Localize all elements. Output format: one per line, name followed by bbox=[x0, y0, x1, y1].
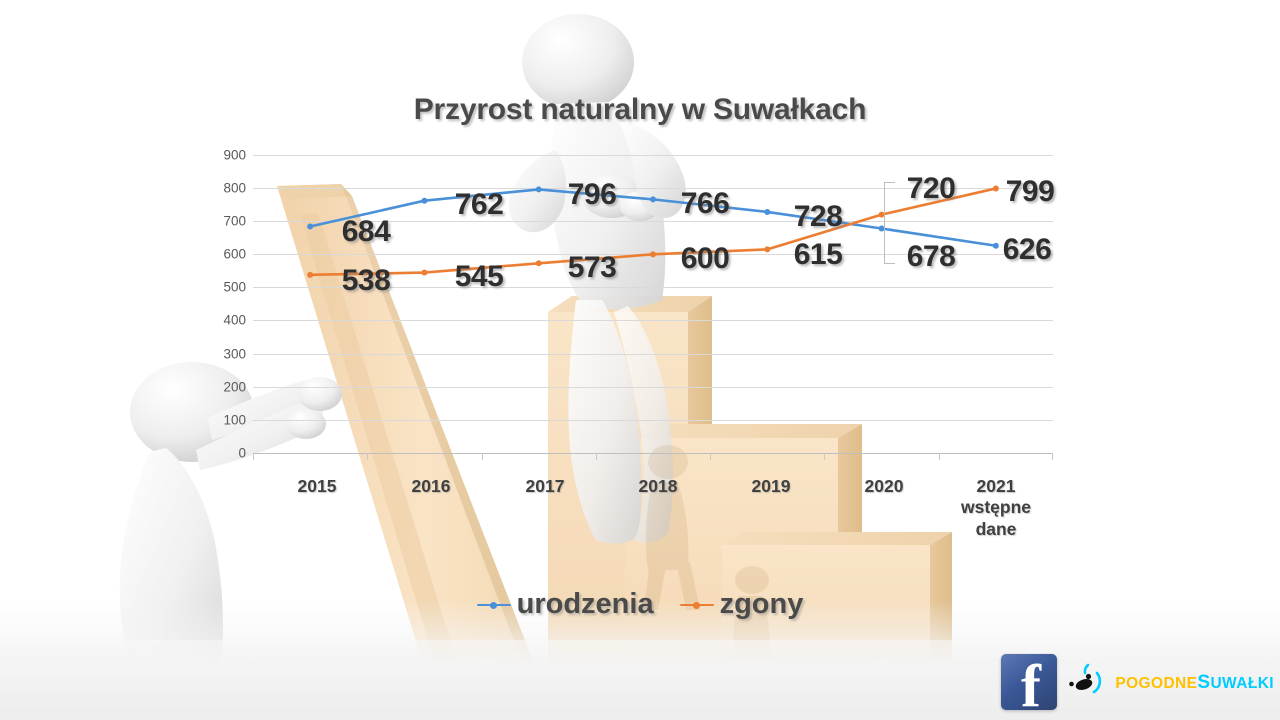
data-label-zgony-2020: 720 bbox=[907, 172, 956, 206]
data-label-urodzenia-2017: 796 bbox=[568, 178, 617, 212]
x-label-2015: 2015 bbox=[257, 476, 377, 497]
x-label-2018: 2018 bbox=[598, 476, 718, 497]
x-tick-5 bbox=[824, 453, 825, 460]
callout-bracket bbox=[884, 182, 895, 264]
series-urodzenia bbox=[307, 186, 999, 248]
data-label-zgony-2018: 600 bbox=[681, 242, 730, 276]
data-label-urodzenia-2016: 762 bbox=[455, 188, 504, 222]
data-label-urodzenia-2021: 626 bbox=[1003, 233, 1052, 267]
x-tick-6 bbox=[939, 453, 940, 460]
x-label-2021: 2021 wstępne dane bbox=[936, 476, 1056, 540]
legend-marker-icon-zgony bbox=[680, 599, 714, 611]
data-label-zgony-2021: 799 bbox=[1006, 175, 1055, 209]
data-point-zgony-2016[interactable] bbox=[421, 270, 427, 276]
legend-item-urodzenia[interactable]: urodzenia bbox=[477, 588, 654, 621]
slide-canvas: Przyrost naturalny w Suwałkach 900 800 7… bbox=[0, 0, 1280, 720]
data-point-zgony-2021[interactable] bbox=[993, 185, 999, 191]
x-label-2016: 2016 bbox=[371, 476, 491, 497]
data-point-urodzenia-2018[interactable] bbox=[650, 196, 656, 202]
brand-suwalki-cap: S bbox=[1197, 672, 1210, 693]
legend-marker-icon-urodzenia bbox=[477, 599, 511, 611]
legend-label-zgony: zgony bbox=[720, 588, 804, 621]
legend-label-urodzenia: urodzenia bbox=[517, 588, 654, 621]
data-point-urodzenia-2019[interactable] bbox=[764, 209, 770, 215]
pogodne-suwalki-mark-icon bbox=[1063, 659, 1109, 705]
y-tick-100: 100 bbox=[208, 413, 246, 428]
y-tick-700: 700 bbox=[208, 214, 246, 229]
x-tick-2 bbox=[482, 453, 483, 460]
x-label-2020: 2020 bbox=[824, 476, 944, 497]
x-label-2021-line1: 2021 bbox=[936, 476, 1056, 497]
x-label-2017-line1: 2017 bbox=[485, 476, 605, 497]
facebook-f-glyph: f bbox=[1021, 656, 1041, 710]
data-label-urodzenia-2019: 728 bbox=[794, 200, 843, 234]
x-tick-7 bbox=[1052, 453, 1053, 460]
data-label-zgony-2015: 538 bbox=[342, 264, 391, 298]
data-point-urodzenia-2021[interactable] bbox=[993, 243, 999, 249]
y-tick-300: 300 bbox=[208, 347, 246, 362]
brand-wordmark: POGODNESUWAŁKI bbox=[1115, 673, 1274, 692]
y-tick-800: 800 bbox=[208, 181, 246, 196]
x-label-2018-line1: 2018 bbox=[598, 476, 718, 497]
chart-legend: urodzenia zgony bbox=[0, 588, 1280, 621]
x-label-2015-line1: 2015 bbox=[257, 476, 377, 497]
data-label-urodzenia-2020: 678 bbox=[907, 240, 956, 274]
y-tick-400: 400 bbox=[208, 313, 246, 328]
data-label-urodzenia-2018: 766 bbox=[681, 187, 730, 221]
x-tick-3 bbox=[596, 453, 597, 460]
data-point-zgony-2018[interactable] bbox=[650, 251, 656, 257]
x-label-2016-line1: 2016 bbox=[371, 476, 491, 497]
x-tick-0 bbox=[253, 453, 254, 460]
x-label-2019: 2019 bbox=[711, 476, 831, 497]
x-label-2017: 2017 bbox=[485, 476, 605, 497]
legend-item-zgony[interactable]: zgony bbox=[680, 588, 804, 621]
y-tick-0: 0 bbox=[208, 446, 246, 461]
data-point-zgony-2017[interactable] bbox=[536, 260, 542, 266]
y-tick-900: 900 bbox=[208, 148, 246, 163]
data-point-urodzenia-2015[interactable] bbox=[307, 224, 313, 230]
data-label-zgony-2019: 615 bbox=[794, 238, 843, 272]
x-label-2021-line2: wstępne bbox=[936, 497, 1056, 518]
y-tick-600: 600 bbox=[208, 247, 246, 262]
x-tick-4 bbox=[710, 453, 711, 460]
x-tick-1 bbox=[367, 453, 368, 460]
x-axis-line bbox=[253, 453, 1053, 454]
data-point-zgony-2015[interactable] bbox=[307, 272, 313, 278]
brand-suwalki-rest: UWAŁKI bbox=[1210, 675, 1274, 692]
chart: Przyrost naturalny w Suwałkach 900 800 7… bbox=[0, 0, 1280, 720]
x-label-2019-line1: 2019 bbox=[711, 476, 831, 497]
chart-title: Przyrost naturalny w Suwałkach bbox=[0, 93, 1280, 127]
data-label-urodzenia-2015: 684 bbox=[342, 215, 391, 249]
y-tick-200: 200 bbox=[208, 380, 246, 395]
data-label-zgony-2017: 573 bbox=[568, 251, 617, 285]
x-label-2021-line3: dane bbox=[936, 519, 1056, 540]
branding-logo[interactable]: f POGODNESUWAŁKI bbox=[1001, 654, 1274, 710]
y-tick-500: 500 bbox=[208, 280, 246, 295]
data-label-zgony-2016: 545 bbox=[455, 260, 504, 294]
facebook-icon[interactable]: f bbox=[1001, 654, 1057, 710]
data-point-urodzenia-2016[interactable] bbox=[421, 198, 427, 204]
data-point-zgony-2019[interactable] bbox=[764, 246, 770, 252]
brand-pogodne: POGODNE bbox=[1115, 675, 1197, 692]
x-label-2020-line1: 2020 bbox=[824, 476, 944, 497]
data-point-urodzenia-2017[interactable] bbox=[536, 186, 542, 192]
